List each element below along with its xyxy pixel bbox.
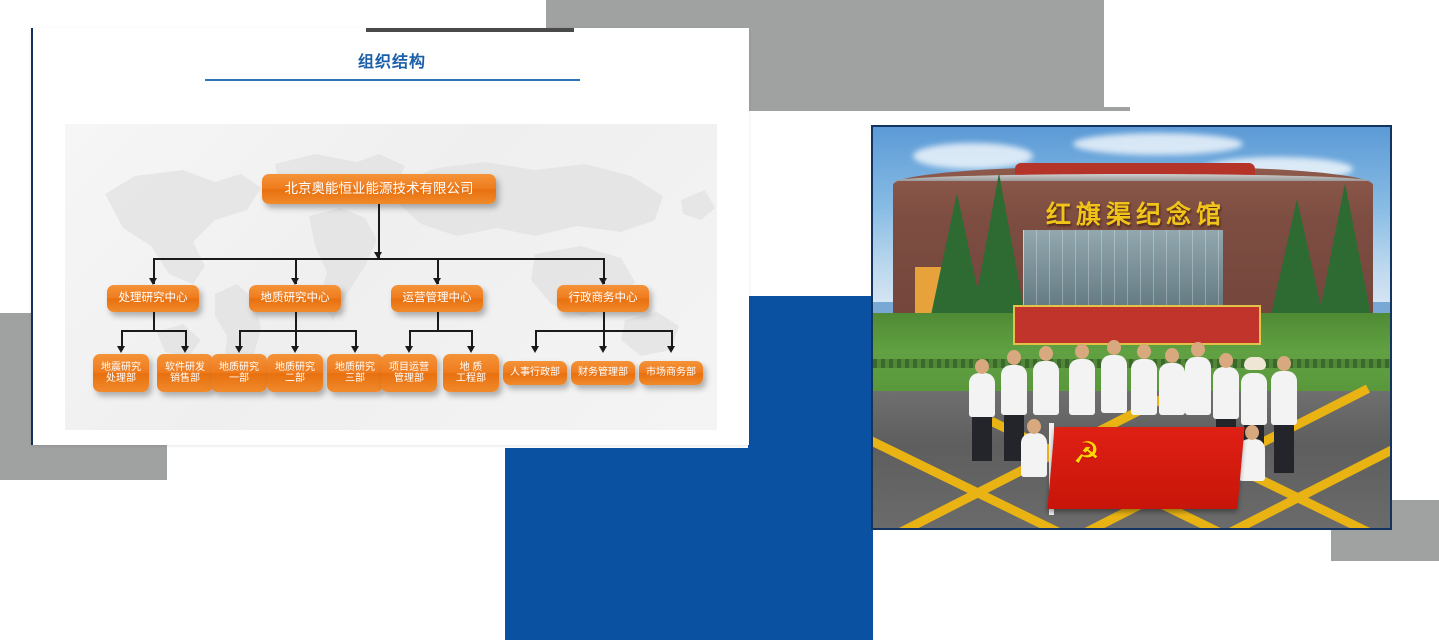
org-node-center-1[interactable]: 处理研究中心 (107, 285, 199, 312)
org-chart-panel: 北京奥能恒业能源技术有限公司 处理研究中心 地质研究中心 运营管理中心 (65, 124, 717, 430)
connector-c2-d2-arrow (291, 346, 299, 353)
connector-arrow-c4 (599, 278, 607, 285)
page-title: 组织结构 (33, 48, 751, 72)
connector-c4-d2-arrow (599, 346, 607, 353)
photo-person (1185, 357, 1211, 415)
photo-person (969, 373, 995, 417)
photo-person-head (1007, 350, 1021, 365)
page-root: 组织结构 北京奥能恒业能源技术有限公司 (0, 0, 1439, 640)
photo-person (1001, 365, 1027, 415)
decor-blue-block-upper (748, 296, 873, 449)
photo-glass-mullions (1023, 230, 1223, 312)
card-top-accent-line (366, 28, 574, 32)
connector-c3-bus (409, 330, 473, 332)
photo-person (1159, 363, 1185, 415)
org-node-dept-1-1[interactable]: 地震研究 处理部 (93, 354, 149, 392)
org-chart-nodes: 北京奥能恒业能源技术有限公司 处理研究中心 地质研究中心 运营管理中心 (65, 124, 717, 430)
photo-person-head (975, 359, 989, 374)
org-node-dept-3-2[interactable]: 地 质 工程部 (443, 354, 499, 392)
photo-person-head (1191, 342, 1205, 357)
org-node-dept-4-3[interactable]: 市场商务部 (639, 361, 703, 385)
photo-person (1131, 359, 1157, 415)
photo-person-head (1219, 353, 1233, 368)
connector-c3-d1-arrow (405, 346, 413, 353)
connector-c4-stem (603, 312, 605, 332)
photo-person-head (1075, 344, 1089, 359)
connector-arrow-c3 (433, 278, 441, 285)
connector-c4-d3-arrow (667, 346, 675, 353)
connector-c2-bus (239, 330, 357, 332)
title-underline (205, 79, 580, 81)
connector-root-stem (378, 204, 380, 258)
photo-person-hat (1244, 357, 1266, 370)
connector-c2-d3-arrow (351, 346, 359, 353)
photo-person (1069, 359, 1095, 415)
photo-person-legs (972, 417, 992, 461)
org-node-dept-2-1[interactable]: 地质研究 一部 (211, 354, 267, 392)
connector-c2-stem (295, 312, 297, 332)
org-node-dept-2-2[interactable]: 地质研究 二部 (267, 354, 323, 392)
photo-building-sign: 红旗渠纪念馆 (1021, 195, 1251, 231)
content-card: 组织结构 北京奥能恒业能源技术有限公司 (31, 28, 749, 445)
connector-level2-bus (153, 258, 603, 260)
photo-person-head (1165, 348, 1179, 363)
photo-tree (973, 173, 1025, 315)
photo-person-head (1137, 344, 1151, 359)
org-node-center-4[interactable]: 行政商务中心 (557, 285, 649, 312)
org-node-center-3[interactable]: 运营管理中心 (391, 285, 483, 312)
org-node-dept-4-2[interactable]: 财务管理部 (571, 361, 635, 385)
connector-arrow-c1 (149, 278, 157, 285)
photo-person-head (1245, 425, 1259, 440)
photo-person (1101, 355, 1127, 413)
photo-tree (1319, 183, 1371, 315)
photo-person (1213, 367, 1239, 419)
photo-person-head (1027, 419, 1041, 434)
org-node-dept-4-1[interactable]: 人事行政部 (503, 361, 567, 385)
photo-person (1033, 361, 1059, 415)
connector-c2-d1-arrow (235, 346, 243, 353)
photo-background-banner (1013, 305, 1261, 345)
org-node-dept-3-1[interactable]: 项目运营 管理部 (381, 354, 437, 392)
connector-c1-stem (153, 312, 155, 332)
org-node-dept-1-2[interactable]: 软件研发 销售部 (157, 354, 213, 392)
connector-c1-bus (121, 330, 185, 332)
photo-tree (1271, 199, 1323, 315)
decor-blue-block-main (505, 448, 873, 640)
connector-arrow-c2 (291, 278, 299, 285)
connector-c3-stem (437, 312, 439, 332)
connector-c1-d1-arrow (117, 346, 125, 353)
connector-c1-d2-arrow (181, 346, 189, 353)
photo-person-head (1277, 356, 1291, 371)
photo-flag-emblem: ☭ (1073, 439, 1100, 469)
team-photo: 红旗渠纪念馆 (871, 125, 1392, 530)
photo-person (1241, 373, 1267, 425)
photo-person-head (1039, 346, 1053, 361)
org-node-root[interactable]: 北京奥能恒业能源技术有限公司 (262, 174, 496, 204)
connector-c3-d2-arrow (467, 346, 475, 353)
connector-c4-d1-arrow (531, 346, 539, 353)
photo-building-cornice (895, 174, 1371, 181)
photo-person-head (1107, 340, 1121, 355)
photo-cloud (1073, 133, 1243, 155)
org-node-dept-2-3[interactable]: 地质研究 三部 (327, 354, 383, 392)
photo-person-legs (1274, 425, 1294, 473)
photo-person (1271, 371, 1297, 425)
photo-person-kneeling (1021, 433, 1047, 477)
org-node-center-2[interactable]: 地质研究中心 (249, 285, 341, 312)
